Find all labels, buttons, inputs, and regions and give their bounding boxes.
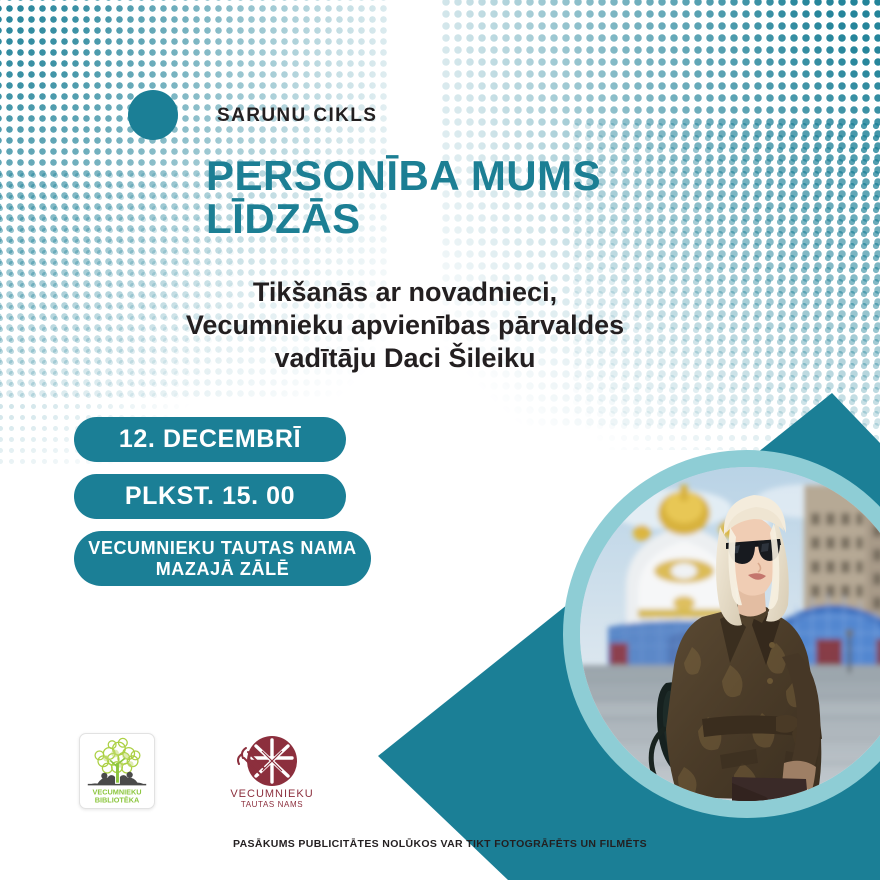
event-time-badge: PLKST. 15. 00: [74, 474, 346, 519]
event-date-badge: 12. DECEMBRĪ: [74, 417, 346, 462]
library-logo-line-2: BIBLIOTĒKA: [95, 796, 140, 805]
portrait-photo: [580, 467, 880, 801]
event-venue-badge: VECUMNIEKU TAUTAS NAMA MAZAJĀ ZĀLĒ: [74, 531, 371, 586]
accent-circle-icon: [128, 90, 178, 140]
portrait-photo-ring: [563, 450, 880, 818]
event-poster: SARUNU CIKLS PERSONĪBA MUMS LĪDZĀS Tikša…: [0, 0, 880, 880]
tautas-nams-logo-graphic: VECUMNIEKU TAUTAS NAMS: [216, 734, 328, 810]
tautas-nams-logo-line-1: VECUMNIEKU: [230, 788, 313, 800]
subtitle-line-3: vadītāju Daci Šileiku: [30, 342, 780, 375]
page-title: PERSONĪBA MUMS LĪDZĀS: [206, 155, 766, 241]
tautas-nams-logo-line-2: TAUTAS NAMS: [241, 800, 303, 809]
vecumnieku-biblioteka-logo: VECUMNIEKU BIBLIOTĒKA: [79, 733, 155, 809]
portrait-illustration: [580, 467, 880, 801]
title-line-1: PERSONĪBA MUMS: [206, 155, 766, 198]
event-details-pills: 12. DECEMBRĪ PLKST. 15. 00 VECUMNIEKU TA…: [74, 417, 371, 586]
venue-line-1: VECUMNIEKU TAUTAS NAMA: [88, 538, 357, 559]
vecumnieku-tautas-nams-logo: VECUMNIEKU TAUTAS NAMS: [216, 734, 328, 810]
series-label: SARUNU CIKLS: [217, 105, 377, 127]
subtitle-line-1: Tikšanās ar novadnieci,: [30, 276, 780, 309]
subtitle-line-2: Vecumnieku apvienības pārvaldes: [30, 309, 780, 342]
library-logo-graphic: VECUMNIEKU BIBLIOTĒKA: [80, 734, 154, 808]
title-line-2: LĪDZĀS: [206, 198, 766, 241]
event-subtitle: Tikšanās ar novadnieci, Vecumnieku apvie…: [30, 276, 780, 375]
photography-disclaimer: PASĀKUMS PUBLICITĀTES NOLŪKOS VAR TIKT F…: [0, 838, 880, 850]
venue-line-2: MAZAJĀ ZĀLĒ: [88, 559, 357, 580]
